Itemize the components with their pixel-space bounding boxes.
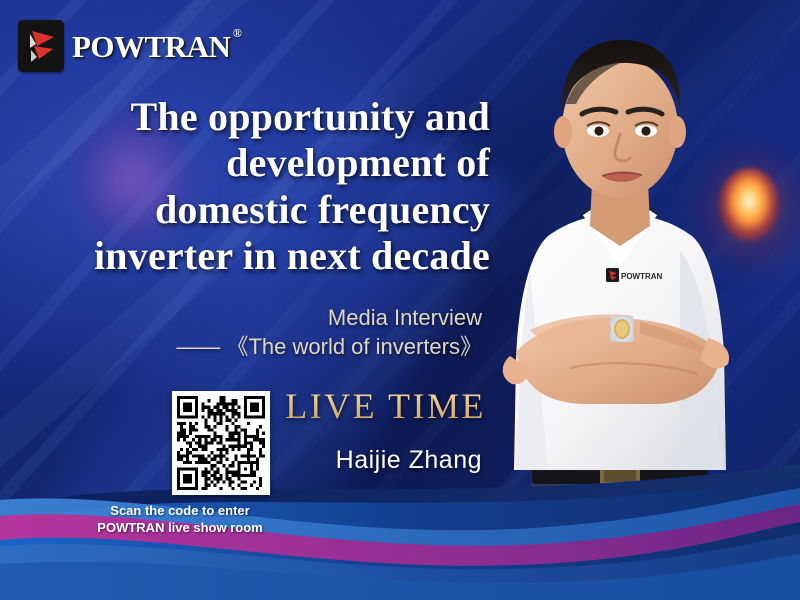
subtitle-line-1: Media Interview bbox=[0, 303, 482, 332]
headline-line-1: The opportunity and bbox=[0, 94, 490, 140]
qr-code-icon[interactable] bbox=[172, 391, 270, 495]
qr-code-canvas bbox=[177, 396, 265, 490]
headline-line-2: development of bbox=[0, 140, 490, 186]
brand-name-text: POWTRAN bbox=[72, 29, 230, 64]
qr-caption-line-1: Scan the code to enter bbox=[60, 503, 300, 520]
brand-name: POWTRAN® bbox=[72, 31, 230, 62]
qr-caption: Scan the code to enter POWTRAN live show… bbox=[60, 503, 300, 537]
svg-text:POWTRAN: POWTRAN bbox=[621, 272, 663, 281]
powtran-logo-icon bbox=[18, 20, 64, 72]
promo-banner: POWTRAN bbox=[0, 0, 800, 600]
page-title: The opportunity and development of domes… bbox=[0, 94, 512, 280]
headline-line-3: domestic frequency bbox=[0, 187, 490, 233]
qr-caption-line-2: POWTRAN live show room bbox=[60, 520, 300, 537]
subtitle-block: Media Interview —— 《The world of inverte… bbox=[0, 303, 512, 361]
brand-logo[interactable]: POWTRAN® bbox=[18, 20, 230, 72]
registered-mark: ® bbox=[233, 27, 241, 39]
headline-line-4: inverter in next decade bbox=[0, 233, 490, 279]
subtitle-line-2: —— 《The world of inverters》 bbox=[0, 332, 482, 361]
